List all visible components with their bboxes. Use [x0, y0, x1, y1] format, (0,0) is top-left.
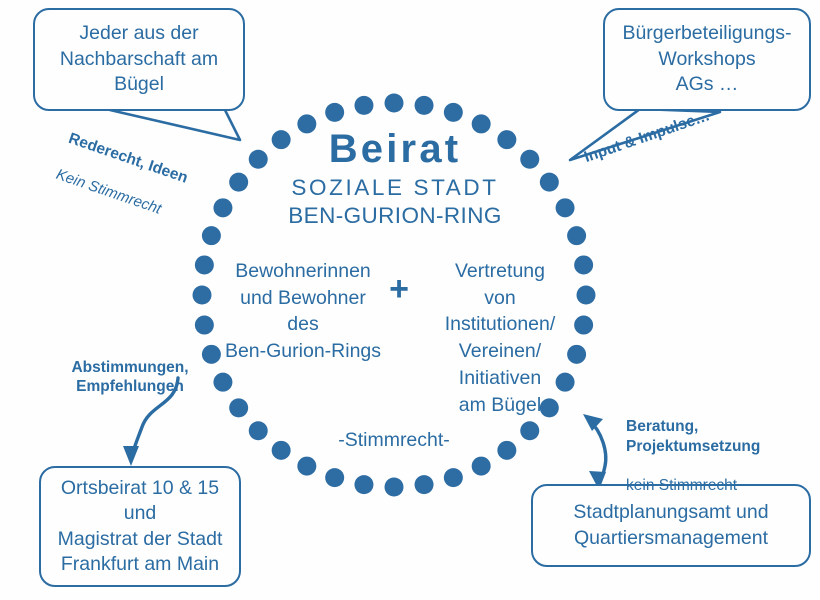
ring-dot — [213, 198, 232, 217]
bubble-participation[interactable]: Bürgerbeteiligungs- Workshops AGs … — [603, 8, 811, 111]
ring-dot — [195, 316, 214, 335]
ring-dot — [556, 198, 575, 217]
ring-dot — [472, 457, 491, 476]
ring-dot — [444, 468, 463, 487]
ring-dot — [385, 478, 404, 497]
arrowhead-abstimmungen — [123, 446, 139, 466]
ring-dot — [297, 457, 316, 476]
bubble-neighbours[interactable]: Jeder aus der Nachbarschaft am Bügel — [33, 8, 245, 111]
ring-dot — [354, 96, 373, 115]
column-residents: Bewohnerinnen und Bewohner des Ben-Gurio… — [213, 258, 393, 365]
ring-dot — [497, 441, 516, 460]
plus-icon: + — [378, 272, 420, 306]
diagram-canvas: Jeder aus der Nachbarschaft am Bügel Bür… — [0, 0, 820, 600]
arrowhead-beratung-up — [583, 414, 603, 431]
ring-dot — [229, 398, 248, 417]
caption-beratung: Beratung, Projektumsetzung kein Stimmrec… — [626, 398, 820, 514]
column-institutions: Vertretung von Institutionen/ Vereinen/ … — [420, 258, 580, 418]
box-ortsbeirat-text: Ortsbeirat 10 & 15 und Magistrat der Sta… — [58, 476, 223, 577]
ring-dot — [415, 475, 434, 494]
ring-dot — [444, 103, 463, 122]
subtitle-ben-gurion-ring: BEN-GURION-RING — [235, 203, 555, 229]
ring-dot — [325, 468, 344, 487]
ring-dot — [202, 226, 221, 245]
caption-beratung-bold: Beratung, Projektumsetzung — [626, 417, 820, 456]
ring-dot — [520, 421, 539, 440]
ring-dot — [193, 286, 212, 305]
caption-beratung-regular: kein Stimmrecht — [626, 476, 820, 495]
bubble-neighbours-text: Jeder aus der Nachbarschaft am Bügel — [60, 21, 218, 97]
page-title: Beirat — [235, 127, 555, 172]
caption-abstimmungen: Abstimmungen, Empfehlungen — [40, 358, 220, 397]
bubble-participation-text: Bürgerbeteiligungs- Workshops AGs … — [622, 21, 791, 97]
ring-dot — [385, 94, 404, 113]
subtitle-soziale-stadt: SOZIALE STADT — [235, 175, 555, 201]
ring-dot — [567, 226, 586, 245]
ring-dot — [325, 103, 344, 122]
ring-dot — [249, 421, 268, 440]
voting-right-note: -Stimmrecht- — [294, 429, 494, 452]
ring-dot — [195, 255, 214, 274]
box-ortsbeirat[interactable]: Ortsbeirat 10 & 15 und Magistrat der Sta… — [39, 466, 241, 587]
ring-dot — [354, 475, 373, 494]
ring-dot — [272, 441, 291, 460]
ring-dot — [415, 96, 434, 115]
